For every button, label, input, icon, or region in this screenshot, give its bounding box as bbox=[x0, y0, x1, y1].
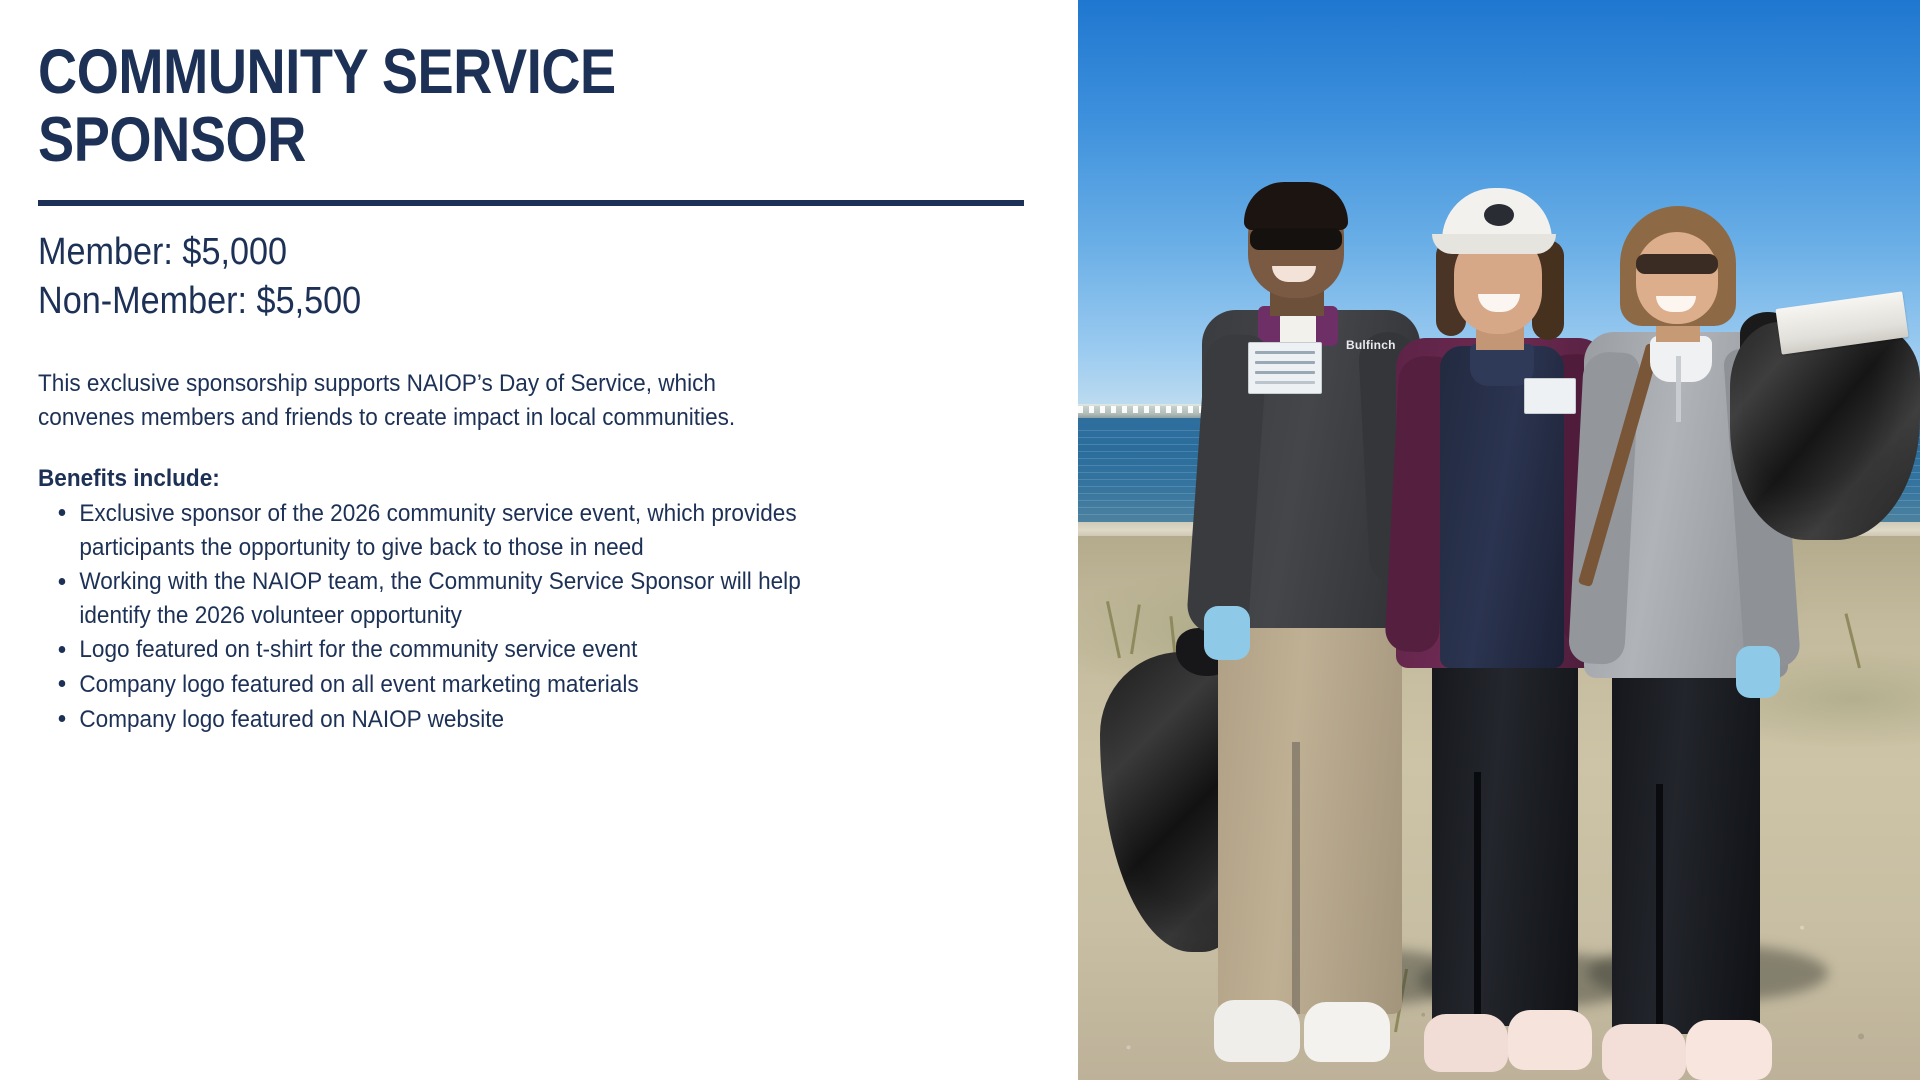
bullet-icon bbox=[59, 578, 66, 585]
intro-paragraph: This exclusive sponsorship supports NAIO… bbox=[38, 367, 790, 435]
shoe-left bbox=[1214, 1000, 1300, 1062]
legs-split bbox=[1656, 784, 1663, 1034]
cap-brim bbox=[1432, 234, 1556, 254]
benefit-text: Exclusive sponsor of the 2026 community … bbox=[79, 500, 796, 561]
pricing-block: Member: $5,000 Non-Member: $5,500 bbox=[38, 228, 1020, 327]
member-price: Member: $5,000 bbox=[38, 228, 1019, 277]
list-item: Working with the NAIOP team, the Communi… bbox=[38, 565, 828, 632]
bullet-icon bbox=[59, 509, 66, 516]
list-item: Company logo featured on all event marke… bbox=[38, 668, 828, 702]
sponsorship-slide: COMMUNITY SERVICE SPONSOR Member: $5,000… bbox=[0, 0, 1920, 1080]
shoe-left bbox=[1424, 1014, 1508, 1072]
content-panel: COMMUNITY SERVICE SPONSOR Member: $5,000… bbox=[0, 0, 1078, 1080]
khaki-pants bbox=[1218, 614, 1402, 1014]
sunglasses-icon bbox=[1636, 254, 1718, 274]
benefits-heading: Benefits include: bbox=[38, 465, 1016, 493]
sunglasses-icon bbox=[1250, 228, 1342, 250]
name-badge bbox=[1248, 342, 1322, 394]
leggings bbox=[1612, 664, 1760, 1034]
legs-split bbox=[1474, 772, 1481, 1026]
benefit-text: Working with the NAIOP team, the Communi… bbox=[79, 568, 800, 629]
shoe-right bbox=[1686, 1020, 1772, 1080]
benefits-list: Exclusive sponsor of the 2026 community … bbox=[38, 497, 1016, 736]
jacket-logo: Bulfinch bbox=[1346, 338, 1400, 353]
benefit-text: Company logo featured on all event marke… bbox=[79, 671, 638, 698]
list-item: Logo featured on t-shirt for the communi… bbox=[38, 633, 828, 667]
trash-bag-right bbox=[1730, 322, 1920, 540]
shoe-left bbox=[1602, 1024, 1686, 1080]
quarter-zip bbox=[1676, 356, 1681, 422]
blue-glove bbox=[1204, 606, 1250, 660]
benefit-text: Logo featured on t-shirt for the communi… bbox=[79, 636, 637, 663]
bullet-icon bbox=[59, 680, 66, 687]
bullet-icon bbox=[59, 715, 66, 722]
volunteers-beach-photo: Bulfinch bbox=[1078, 0, 1920, 1080]
benefit-text: Company logo featured on NAIOP website bbox=[79, 706, 504, 733]
non-member-price: Non-Member: $5,500 bbox=[38, 277, 1019, 326]
pants-leg-split bbox=[1292, 742, 1300, 1014]
list-item: Company logo featured on NAIOP website bbox=[38, 703, 828, 737]
name-badge bbox=[1524, 378, 1576, 414]
leggings bbox=[1432, 654, 1578, 1026]
bullet-icon bbox=[59, 646, 66, 653]
list-item: Exclusive sponsor of the 2026 community … bbox=[38, 497, 828, 564]
cap-logo bbox=[1484, 204, 1514, 226]
blue-glove bbox=[1736, 646, 1780, 698]
collar bbox=[1650, 336, 1712, 382]
hair bbox=[1244, 182, 1348, 230]
page-title: COMMUNITY SERVICE SPONSOR bbox=[38, 38, 1018, 174]
title-divider bbox=[38, 200, 1024, 206]
shoe-right bbox=[1304, 1002, 1390, 1062]
